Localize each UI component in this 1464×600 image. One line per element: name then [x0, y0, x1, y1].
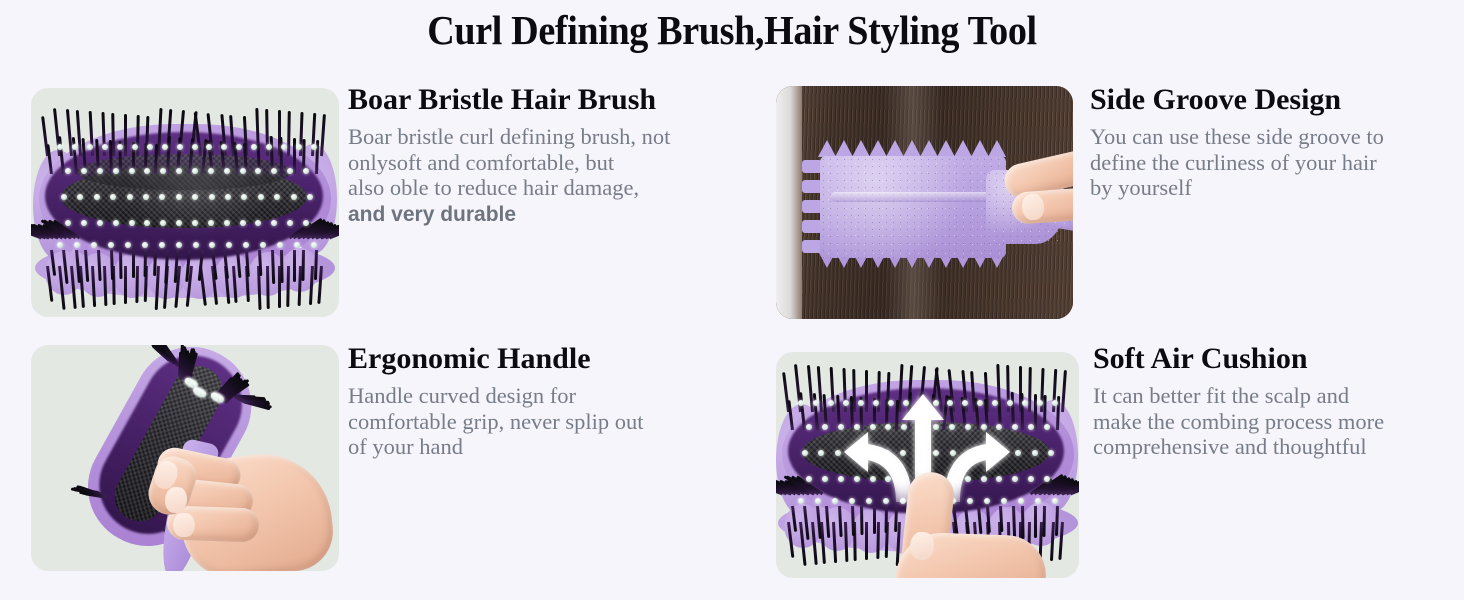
feature-heading: Soft Air Cushion — [1093, 341, 1461, 377]
bristle-ball-tip — [192, 144, 198, 150]
bristle-ball-tip — [72, 144, 78, 150]
hair-edge-highlight — [776, 86, 802, 319]
bristle-ball-tip — [102, 144, 108, 150]
bristle-ball-tip — [224, 220, 230, 226]
feature-body-line: make the combing process more — [1093, 409, 1461, 435]
bristle — [314, 250, 318, 280]
feature-body-line: also oble to reduce hair damage, — [348, 175, 748, 201]
bristle-ball-tip — [129, 220, 135, 226]
bristle-ball-tip — [132, 144, 138, 150]
comb-tooth — [802, 200, 822, 213]
comb-tooth — [852, 140, 870, 157]
bristle — [279, 137, 283, 174]
fingernail — [173, 513, 195, 537]
image-card — [776, 352, 1079, 578]
bristle-ball-tip — [303, 168, 309, 174]
bristle — [136, 266, 140, 303]
bristle — [124, 114, 127, 156]
bristle-ball-tip — [113, 220, 119, 226]
bristle — [320, 114, 326, 156]
infographic-page: Curl Defining Brush,Hair Styling Tool — [0, 0, 1464, 600]
bristle-ball-tip — [65, 168, 71, 174]
image-card — [31, 345, 339, 571]
feature-heading: Ergonomic Handle — [348, 341, 740, 377]
comb-tooth — [886, 140, 904, 157]
comb-tooth — [937, 140, 955, 157]
bristle-ball-tip — [224, 168, 230, 174]
bristle-ball-tip — [311, 144, 317, 150]
feature-body-line: Boar bristle curl defining brush, not — [348, 124, 748, 150]
comb-tooth — [920, 140, 938, 157]
bristle-ball-tip — [143, 194, 149, 200]
bristle-ball-tip — [125, 242, 131, 248]
comb-tooth — [869, 140, 887, 157]
feature-body-line: define the curliness of your hair — [1090, 150, 1462, 176]
bristle-ball-tip — [81, 168, 87, 174]
bristle — [280, 250, 284, 283]
bristle-ball-tip — [113, 168, 119, 174]
feature-body-line: by yourself — [1090, 175, 1462, 201]
bristle-ball-tip — [177, 144, 183, 150]
bristle — [293, 250, 296, 282]
bristle — [293, 138, 296, 174]
bristle — [154, 144, 158, 174]
bristle-ball-tip — [65, 220, 71, 226]
feature-image-boar-bristle-hair-brush — [31, 88, 339, 317]
air-cushion-arrows-image — [776, 352, 1079, 578]
bristle-ball-tip — [258, 194, 264, 200]
feature-body-line: comfortable grip, never splip out — [348, 409, 740, 435]
bristle-ball-tip — [193, 242, 199, 248]
comb-tooth — [988, 140, 1006, 157]
feature-text-soft-air-cushion: Soft Air Cushion It can better fit the s… — [1093, 341, 1461, 460]
bristle-ball-tip — [74, 242, 80, 248]
bristle-ball-tip — [97, 220, 103, 226]
bristle-ball-tip — [240, 220, 246, 226]
bristle — [124, 266, 127, 304]
feature-image-ergonomic-handle — [31, 345, 339, 571]
bristle-ball-tip — [147, 144, 153, 150]
feature-body-line: You can use these side groove to — [1090, 124, 1462, 150]
bristle-ball-tip — [129, 168, 135, 174]
comb-tooth — [835, 140, 853, 157]
feature-image-soft-air-cushion — [776, 352, 1079, 578]
comb-tooth — [903, 140, 921, 157]
bristle-ball-tip — [208, 168, 214, 174]
brush-head-top-view-image — [31, 88, 339, 317]
bristle-ball-tip — [81, 220, 87, 226]
feature-body-line: Handle curved design for — [348, 383, 740, 409]
bristle — [266, 266, 270, 309]
bristle — [153, 250, 157, 276]
bristle-ball-tip — [240, 168, 246, 174]
image-card — [776, 86, 1073, 319]
feature-text-ergonomic-handle: Ergonomic Handle Handle curved design fo… — [348, 341, 740, 460]
comb-tooth — [802, 220, 822, 233]
bristle-ball-tip — [176, 242, 182, 248]
bristle — [66, 109, 73, 156]
feature-text-boar-bristle-hair-brush: Boar Bristle Hair Brush Boar bristle cur… — [348, 82, 748, 228]
bristle-ball-tip — [57, 242, 63, 248]
bristle-ball-tip — [142, 242, 148, 248]
bristle-ball-tip — [225, 194, 231, 200]
bristle-ball-tip — [127, 194, 133, 200]
bristle-ball-tip — [311, 242, 317, 248]
bristle-ball-tip — [192, 168, 198, 174]
bristle-ball-tip — [162, 144, 168, 150]
bristle-ball-tip — [291, 194, 297, 200]
bristle-ball-tip — [176, 194, 182, 200]
bristle-ball-tip — [97, 168, 103, 174]
feature-body-line: comprehensive and thoughtful — [1093, 434, 1461, 460]
feature-text-side-groove-design: Side Groove Design You can use these sid… — [1090, 82, 1462, 201]
feature-body-line: of your hand — [348, 434, 740, 460]
bristle-ball-tip — [87, 144, 93, 150]
bristle — [286, 266, 290, 307]
comb-tooth — [802, 240, 822, 253]
bristle-ball-tip — [94, 194, 100, 200]
feature-body-line: It can better fit the scalp and — [1093, 383, 1461, 409]
bristle-ball-tip — [192, 220, 198, 226]
bristle-ball-tip — [108, 242, 114, 248]
bristle — [287, 111, 291, 156]
feature-body-emphasis: and very durable — [348, 201, 748, 228]
bristle-ball-tip — [61, 194, 67, 200]
bristle-ball-tip — [209, 194, 215, 200]
bristle — [108, 140, 112, 174]
bristle-ball-tip — [208, 220, 214, 226]
bristle — [271, 250, 275, 284]
page-title: Curl Defining Brush,Hair Styling Tool — [51, 6, 1413, 54]
comb-tooth — [818, 140, 836, 157]
bristle — [132, 250, 135, 278]
comb-tooth — [971, 140, 989, 157]
bristle-ball-tip — [159, 242, 165, 248]
bristle-ball-tip — [117, 144, 123, 150]
bristle — [119, 250, 123, 279]
bristle — [110, 250, 114, 280]
bristle-ball-tip — [307, 194, 313, 200]
bristle-ball-tip — [57, 144, 63, 150]
bristle — [301, 250, 305, 281]
feature-heading: Boar Bristle Hair Brush — [348, 82, 748, 118]
comb-tooth — [802, 180, 822, 193]
comb-tooth — [802, 160, 822, 173]
feature-body-line: onlysoft and comfortable, but — [348, 150, 748, 176]
hand-holding-brush-image — [31, 345, 339, 571]
bristle-ball-tip — [91, 242, 97, 248]
comb-tooth — [954, 140, 972, 157]
feature-heading: Side Groove Design — [1090, 82, 1462, 118]
feature-image-side-groove-design — [776, 86, 1073, 319]
image-card — [31, 88, 339, 317]
bristle-ball-tip — [303, 220, 309, 226]
